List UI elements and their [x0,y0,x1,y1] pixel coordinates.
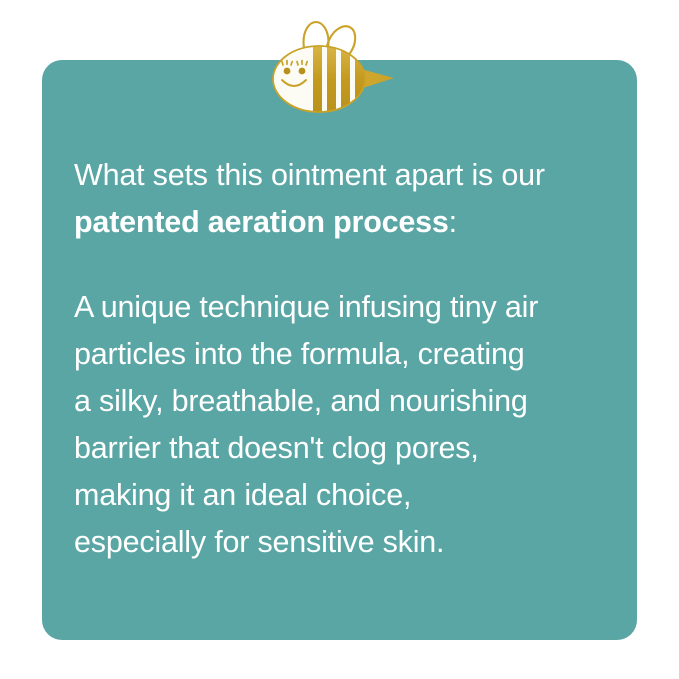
headline-line-2: patented aeration process: [74,199,634,246]
bee-wing-left [304,22,329,62]
headline-line-1: What sets this ointment apart is our [74,158,545,192]
headline-colon: : [449,205,457,239]
body-paragraph: A unique technique infusing tiny air par… [74,246,634,566]
body-line: making it an ideal choice, [74,472,634,519]
card-text-block: What sets this ointment apart is our pat… [74,152,634,566]
headline: What sets this ointment apart is our pat… [74,152,634,246]
headline-emphasis: patented aeration process [74,205,449,239]
body-line: barrier that doesn't clog pores, [74,425,634,472]
body-line: A unique technique infusing tiny air [74,284,634,331]
body-line: especially for sensitive skin. [74,519,634,566]
body-line: a silky, breathable, and nourishing [74,378,634,425]
body-line: particles into the formula, creating [74,331,634,378]
promo-card-canvas: What sets this ointment apart is our pat… [0,0,679,679]
